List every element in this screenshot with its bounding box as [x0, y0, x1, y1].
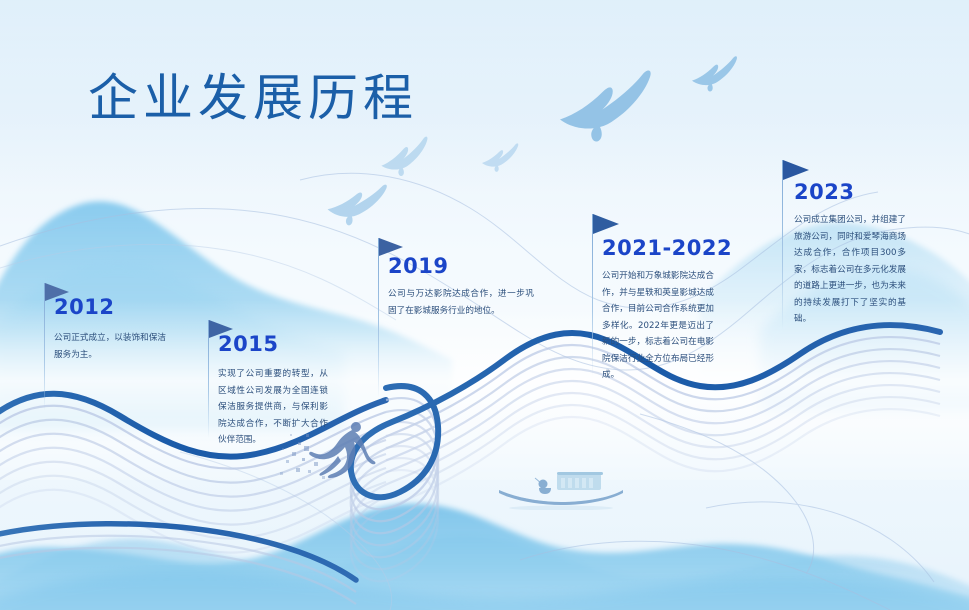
timeline-infographic: 企业发展历程 2012 公司正式成立，以装饰和保洁服务为主。 2015 实现了公… — [0, 0, 969, 610]
flag-pole — [44, 283, 45, 411]
flag-pole — [782, 160, 783, 330]
seagull-icon — [380, 137, 430, 178]
flag-pole — [378, 238, 379, 398]
seagull-icon — [326, 179, 387, 229]
milestone-description: 公司正式成立，以装饰和保洁服务为主。 — [54, 330, 166, 363]
flag-pole — [592, 214, 593, 376]
milestone-2023[interactable]: 2023 公司成立集团公司，并组建了旅游公司，同时和爱琴海商场达成合作，合作项目… — [782, 160, 952, 320]
milestone-description: 公司与万达影院达成合作，进一步巩固了在影城服务行业的地位。 — [388, 286, 534, 319]
milestone-description: 公司成立集团公司，并组建了旅游公司，同时和爱琴海商场达成合作，合作项目300多家… — [794, 212, 906, 328]
seagull-icon — [692, 56, 737, 91]
seagull-icon — [560, 70, 651, 141]
seagull-icon — [482, 143, 518, 171]
milestone-2021-2022[interactable]: 2021-2022 公司开始和万象城影院达成合作，并与星轶和英皇影城达成合作，目… — [592, 214, 752, 364]
milestone-description: 实现了公司重要的转型，从区域性公司发展为全国连锁保洁服务提供商，与保利影院达成合… — [218, 366, 328, 449]
milestone-year: 2015 — [218, 332, 278, 356]
milestone-year: 2019 — [388, 254, 448, 278]
milestone-year: 2021-2022 — [602, 236, 732, 260]
milestone-description: 公司开始和万象城影院达成合作，并与星轶和英皇影城达成合作，目前公司合作系统更加多… — [602, 268, 714, 384]
page-title: 企业发展历程 — [88, 58, 418, 130]
milestone-2015[interactable]: 2015 实现了公司重要的转型，从区域性公司发展为全国连锁保洁服务提供商，与保利… — [208, 320, 368, 460]
flag-pennant-icon — [783, 160, 809, 180]
milestone-year: 2023 — [794, 180, 854, 204]
milestone-2019[interactable]: 2019 公司与万达影院达成合作，进一步巩固了在影城服务行业的地位。 — [378, 238, 538, 368]
fishing-boat-silhouette-icon — [495, 462, 625, 510]
milestone-year: 2012 — [54, 295, 114, 319]
milestone-2012[interactable]: 2012 公司正式成立，以装饰和保洁服务为主。 — [44, 283, 194, 413]
flag-pennant-icon — [593, 214, 619, 234]
